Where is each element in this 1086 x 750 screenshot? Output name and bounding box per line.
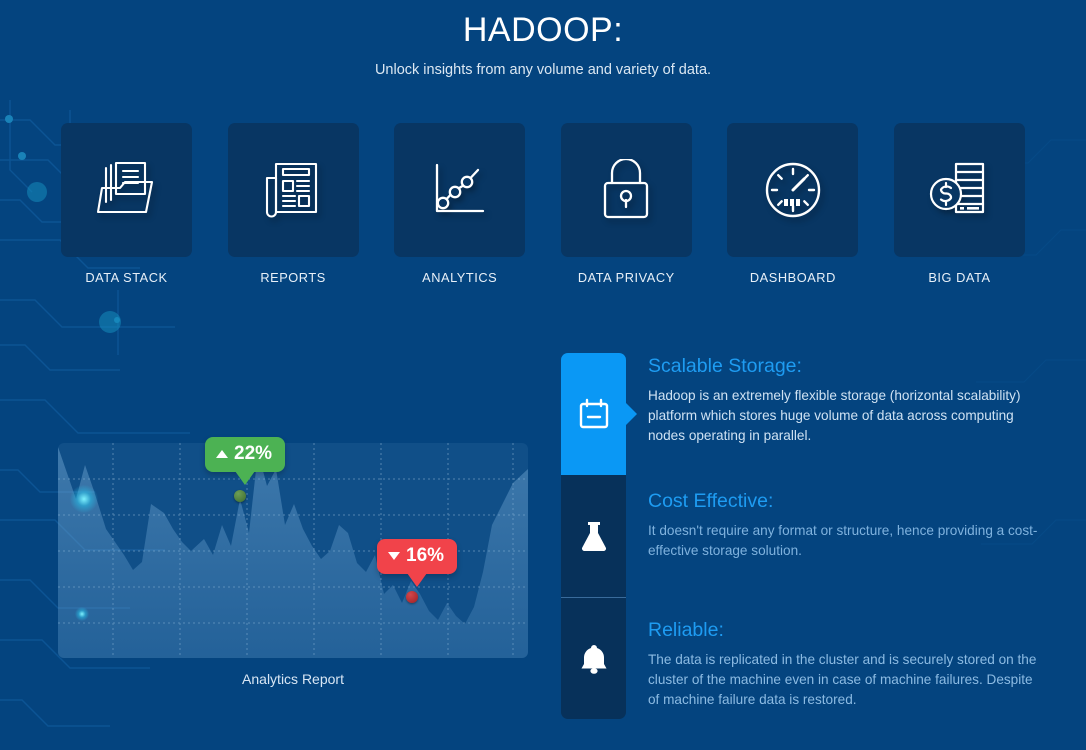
card-tile[interactable] xyxy=(228,123,359,257)
annotation-label: 22% xyxy=(234,443,272,465)
bell-icon xyxy=(579,643,609,675)
chart-marker-up xyxy=(234,490,246,502)
feature-body: The data is replicated in the cluster an… xyxy=(648,650,1044,710)
tab-scalable-storage[interactable] xyxy=(561,353,626,475)
card-data-stack[interactable]: DATA STACK xyxy=(60,123,193,285)
card-tile[interactable] xyxy=(727,123,858,257)
chart-plot xyxy=(58,443,528,658)
page-title: HADOOP: xyxy=(0,10,1086,50)
spacer xyxy=(648,583,1061,617)
features-section: Scalable Storage: Hadoop is an extremely… xyxy=(561,353,1061,719)
card-big-data[interactable]: BIG DATA xyxy=(893,123,1026,285)
tab-cost-effective[interactable] xyxy=(561,475,626,597)
card-tile[interactable] xyxy=(61,123,192,257)
card-reports[interactable]: REPORTS xyxy=(227,123,360,285)
page-subtitle: Unlock insights from any volume and vari… xyxy=(0,61,1086,79)
annotation-label: 16% xyxy=(406,545,444,567)
chart-panel xyxy=(58,443,528,658)
chart-annotation-down[interactable]: 16% xyxy=(377,539,457,574)
feature-title: Cost Effective: xyxy=(648,488,1061,514)
chart-caption: Analytics Report xyxy=(58,671,528,687)
spacer xyxy=(648,468,1061,488)
feature-card-row: DATA STACK REPORTS xyxy=(60,123,1026,285)
analytics-chart xyxy=(58,443,528,658)
card-tile[interactable] xyxy=(394,123,525,257)
feature-title: Reliable: xyxy=(648,617,1061,643)
feature-body: Hadoop is an extremely flexible storage … xyxy=(648,386,1044,446)
card-label: BIG DATA xyxy=(928,270,990,285)
feature-tab-rail xyxy=(561,353,626,719)
line-chart-icon xyxy=(431,161,489,219)
chart-annotation-up[interactable]: 22% xyxy=(205,437,285,472)
feature-scalable-storage: Scalable Storage: Hadoop is an extremely… xyxy=(648,353,1061,446)
newspaper-icon xyxy=(264,160,322,220)
feature-body: It doesn't require any format or structu… xyxy=(648,521,1044,561)
card-data-privacy[interactable]: DATA PRIVACY xyxy=(560,123,693,285)
card-label: ANALYTICS xyxy=(422,270,497,285)
feature-reliable: Reliable: The data is replicated in the … xyxy=(648,617,1061,710)
tab-reliable[interactable] xyxy=(561,597,626,719)
triangle-down-icon xyxy=(388,552,400,560)
calendar-icon xyxy=(578,398,610,430)
feature-cost-effective: Cost Effective: It doesn't require any f… xyxy=(648,488,1061,561)
card-analytics[interactable]: ANALYTICS xyxy=(393,123,526,285)
dollar-server-icon xyxy=(928,161,990,219)
card-label: DATA PRIVACY xyxy=(578,270,675,285)
feature-list: Scalable Storage: Hadoop is an extremely… xyxy=(626,353,1061,719)
card-label: REPORTS xyxy=(260,270,325,285)
padlock-icon xyxy=(601,159,651,221)
card-label: DATA STACK xyxy=(85,270,167,285)
page-header: HADOOP: Unlock insights from any volume … xyxy=(0,0,1086,79)
triangle-up-icon xyxy=(216,450,228,458)
card-dashboard[interactable]: DASHBOARD xyxy=(726,123,859,285)
folder-documents-icon xyxy=(96,160,158,220)
flask-icon xyxy=(579,520,609,552)
card-label: DASHBOARD xyxy=(750,270,836,285)
chart-marker-down xyxy=(406,591,418,603)
feature-title: Scalable Storage: xyxy=(648,353,1061,379)
gauge-clock-icon xyxy=(763,160,823,220)
card-tile[interactable] xyxy=(561,123,692,257)
card-tile[interactable] xyxy=(894,123,1025,257)
